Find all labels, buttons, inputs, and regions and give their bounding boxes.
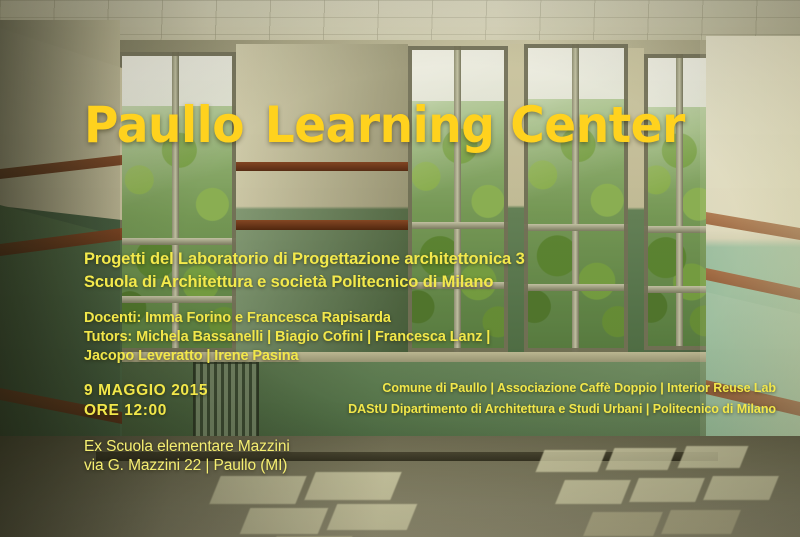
partners-line-2: DAStU Dipartimento di Architettura e Stu…	[348, 402, 776, 416]
window-2-glass	[408, 46, 508, 352]
poster-title: PaulloLearning Center	[84, 100, 685, 150]
radiator	[193, 362, 259, 438]
credits-tutors-line-1: Tutors: Michela Bassanelli | Biagio Cofi…	[84, 329, 490, 345]
title-word-1: Paullo	[84, 96, 244, 154]
subtitle-line-1: Progetti del Laboratorio di Progettazion…	[84, 250, 525, 269]
window-2	[408, 46, 508, 352]
credits-teachers: Docenti: Imma Forino e Francesca Rapisar…	[84, 310, 391, 326]
title-word-2: Learning Center	[265, 96, 685, 154]
poster: PaulloLearning Center Progetti del Labor…	[0, 0, 800, 537]
event-time: ORE 12:00	[84, 402, 167, 420]
window-3-glass	[524, 44, 628, 352]
subtitle-line-2: Scuola di Architettura e società Politec…	[84, 273, 493, 292]
partners-line-1: Comune di Paullo | Associazione Caffè Do…	[382, 381, 776, 395]
window-mullion-pier-2	[508, 44, 524, 354]
venue-address: via G. Mazzini 22 | Paullo (MI)	[84, 457, 287, 475]
window-3	[524, 44, 628, 352]
event-date: 9 MAGGIO 2015	[84, 382, 208, 400]
window-mullion-pier-3	[628, 48, 644, 354]
credits-tutors-line-2: Jacopo Leveratto | Irene Pasina	[84, 348, 299, 364]
venue-name: Ex Scuola elementare Mazzini	[84, 438, 290, 456]
